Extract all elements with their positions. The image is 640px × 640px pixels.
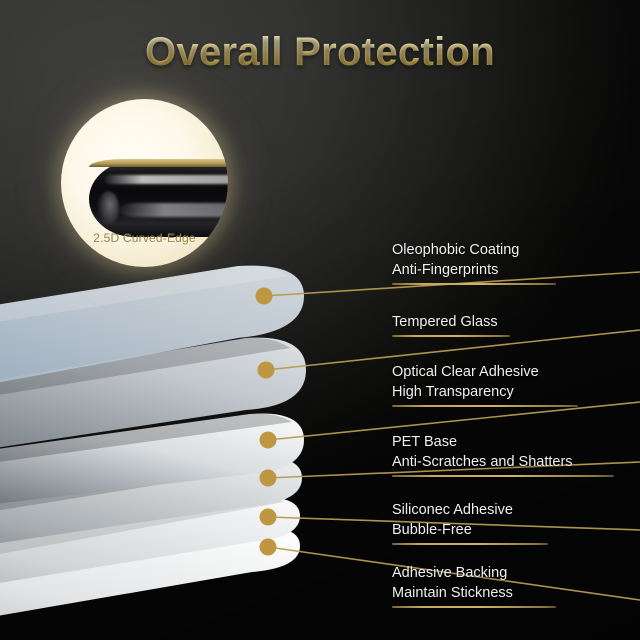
callout-dot-pet-base[interactable] bbox=[260, 470, 277, 487]
callout-title: Optical Clear Adhesive bbox=[392, 362, 578, 382]
callout-dot-siliconec-adhesive[interactable] bbox=[260, 509, 277, 526]
callout-title: Adhesive Backing bbox=[392, 563, 556, 583]
page-title: Overall Protection bbox=[0, 30, 640, 75]
callout-title: Oleophobic Coating bbox=[392, 240, 556, 260]
callout-oleophobic-coating: Oleophobic Coating Anti-Fingerprints bbox=[392, 240, 556, 285]
callout-dot-adhesive-backing[interactable] bbox=[260, 539, 277, 556]
callout-underline bbox=[392, 606, 556, 608]
callout-adhesive-backing: Adhesive Backing Maintain Stickness bbox=[392, 563, 556, 608]
callout-subtitle: Anti-Scratches and Shatters bbox=[392, 452, 614, 472]
callout-underline bbox=[392, 475, 614, 477]
callout-title: Siliconec Adhesive bbox=[392, 500, 548, 520]
callout-subtitle: Maintain Stickness bbox=[392, 583, 556, 603]
callout-title: PET Base bbox=[392, 432, 614, 452]
callout-tempered-glass: Tempered Glass bbox=[392, 312, 510, 337]
callout-underline bbox=[392, 283, 556, 285]
callout-pet-base: PET Base Anti-Scratches and Shatters bbox=[392, 432, 614, 477]
callout-underline bbox=[392, 405, 578, 407]
callout-subtitle: Anti-Fingerprints bbox=[392, 260, 556, 280]
callout-dot-optical-clear-adhesive[interactable] bbox=[260, 432, 277, 449]
callout-siliconec-adhesive: Siliconec Adhesive Bubble-Free bbox=[392, 500, 548, 545]
callout-subtitle: High Transparency bbox=[392, 382, 578, 402]
callout-subtitle: Bubble-Free bbox=[392, 520, 548, 540]
product-infographic: Overall Protection bbox=[0, 0, 640, 640]
callout-optical-clear-adhesive: Optical Clear Adhesive High Transparency bbox=[392, 362, 578, 407]
callout-dot-tempered-glass[interactable] bbox=[258, 362, 275, 379]
callout-underline bbox=[392, 543, 548, 545]
callout-title: Tempered Glass bbox=[392, 312, 510, 332]
callout-underline bbox=[392, 335, 510, 337]
callout-dot-oleophobic-coating[interactable] bbox=[256, 288, 273, 305]
